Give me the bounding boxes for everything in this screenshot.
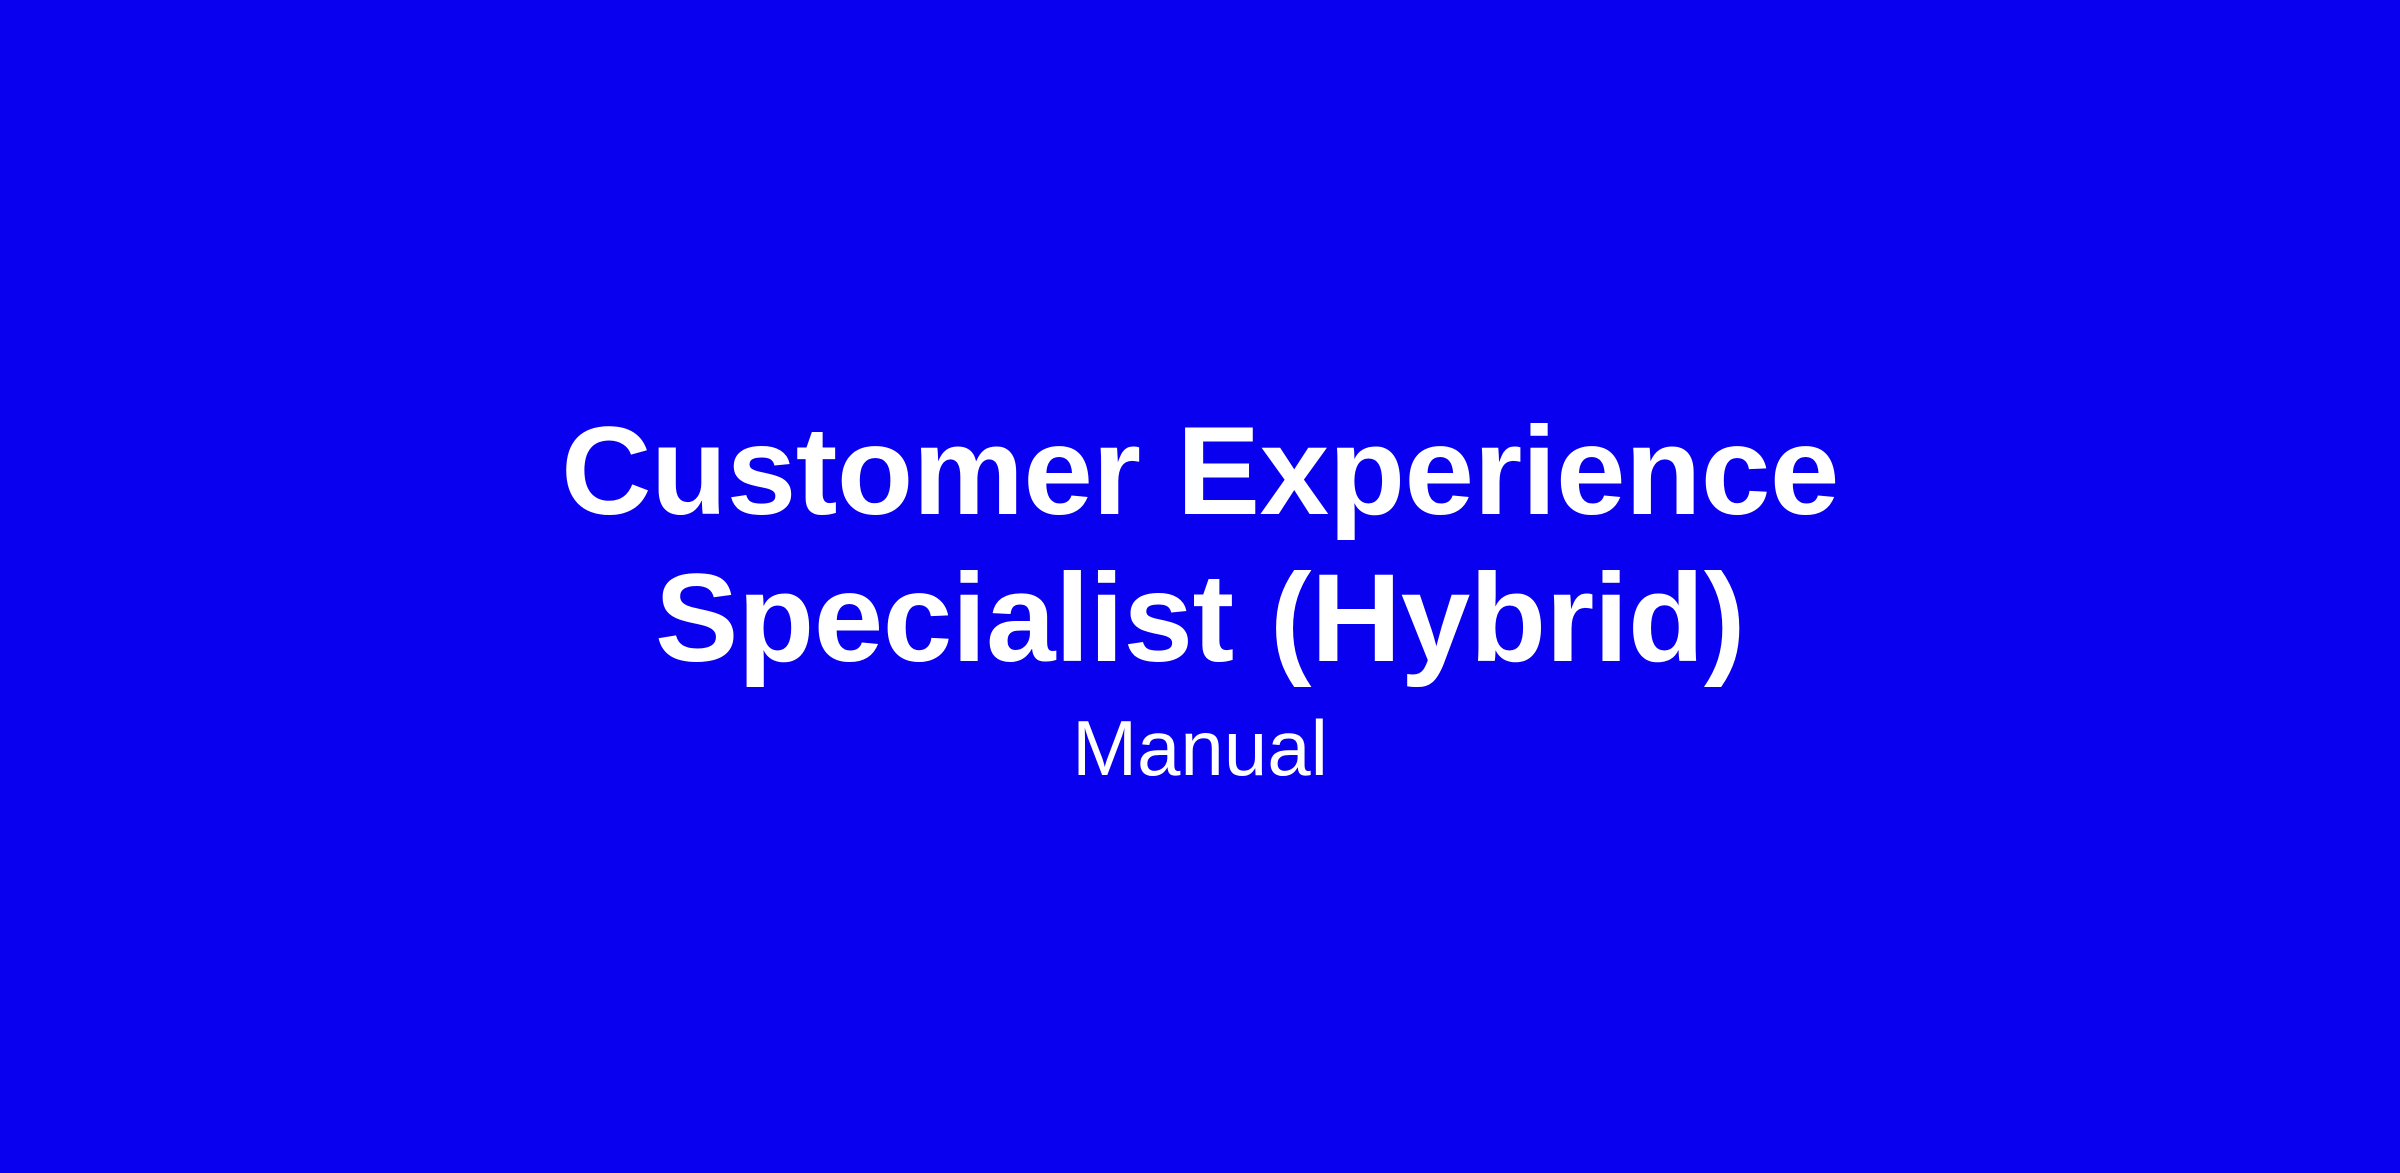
title-slide: Customer Experience Specialist (Hybrid) … [0,0,2400,1173]
page-title: Customer Experience Specialist (Hybrid) [350,398,2050,692]
page-subtitle: Manual [1072,702,1328,794]
title-block: Customer Experience Specialist (Hybrid) … [350,398,2050,794]
